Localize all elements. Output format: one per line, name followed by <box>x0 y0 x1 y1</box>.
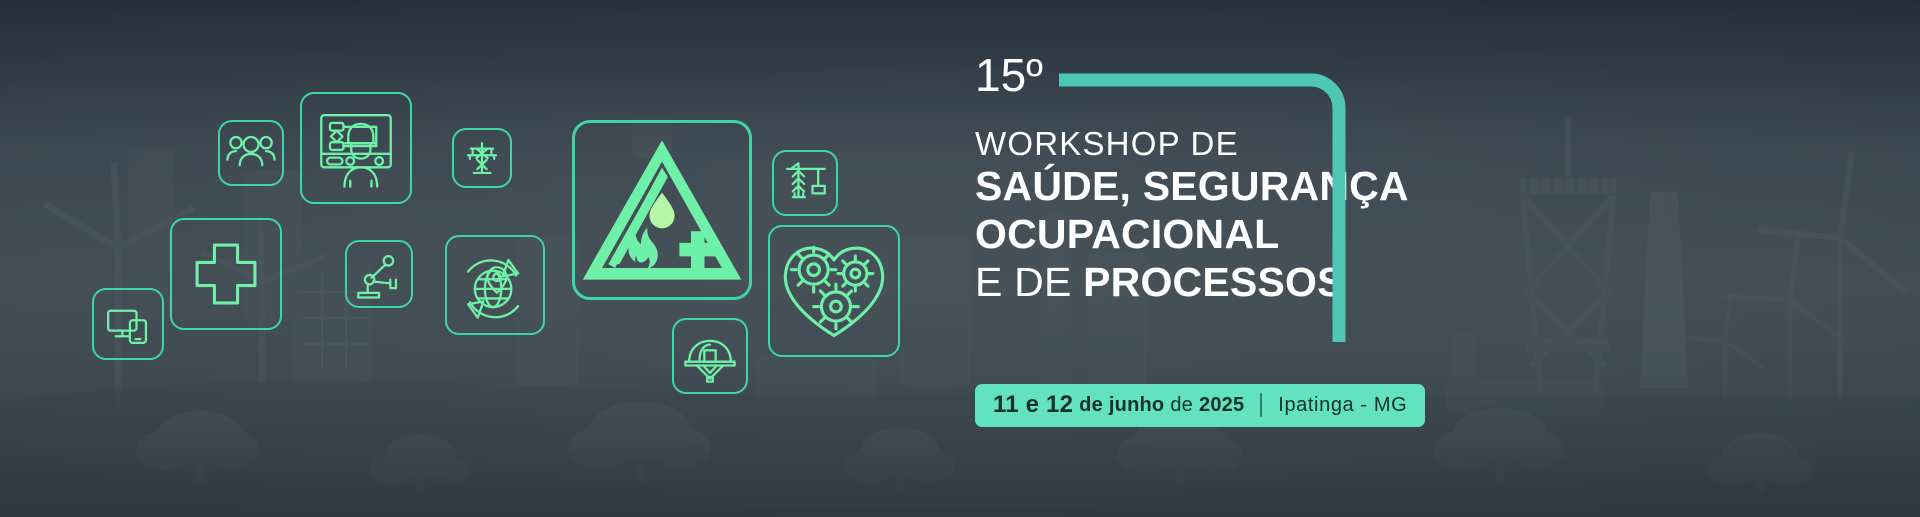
power-tower-icon <box>452 128 512 188</box>
heart-gears-icon <box>768 225 900 357</box>
robot-arm-icon <box>345 240 413 308</box>
devices-icon <box>92 288 164 360</box>
badge-days: 11 e 12 <box>993 391 1073 419</box>
worker-flowchart-icon <box>300 92 412 204</box>
hazard-triangle-icon <box>572 120 752 300</box>
badge-month: junho <box>1109 394 1164 417</box>
title-line-3: OCUPACIONAL <box>975 211 1735 259</box>
title-block: 15º WORKSHOP DE SAÚDE, SEGURANÇA OCUPACI… <box>975 56 1735 307</box>
date-location-badge: 11 e 12 de junho de 2025 Ipatinga - MG <box>975 384 1425 427</box>
medical-cross-icon <box>170 218 282 330</box>
event-banner: 15º WORKSHOP DE SAÚDE, SEGURANÇA OCUPACI… <box>0 0 1920 517</box>
badge-year: 2025 <box>1199 394 1244 417</box>
title-line-2: SAÚDE, SEGURANÇA <box>975 163 1735 211</box>
title-line-4: E DE PROCESSOS <box>975 259 1735 307</box>
edition-ordinal: 15º <box>975 52 1043 98</box>
title-line-4-thin: E DE <box>975 259 1083 305</box>
people-group-icon <box>218 120 284 186</box>
badge-separator <box>1260 393 1262 417</box>
hard-hat-icon <box>672 318 748 394</box>
title-line-4-bold: PROCESSOS <box>1083 259 1345 305</box>
title-line-1: WORKSHOP DE <box>975 126 1735 163</box>
badge-de-1: de <box>1079 394 1103 417</box>
ordinal-row: 15º <box>975 56 1735 116</box>
crane-icon <box>772 150 838 216</box>
badge-de-2: de <box>1170 394 1193 417</box>
badge-location: Ipatinga - MG <box>1278 394 1407 417</box>
globe-cycle-icon <box>445 235 545 335</box>
